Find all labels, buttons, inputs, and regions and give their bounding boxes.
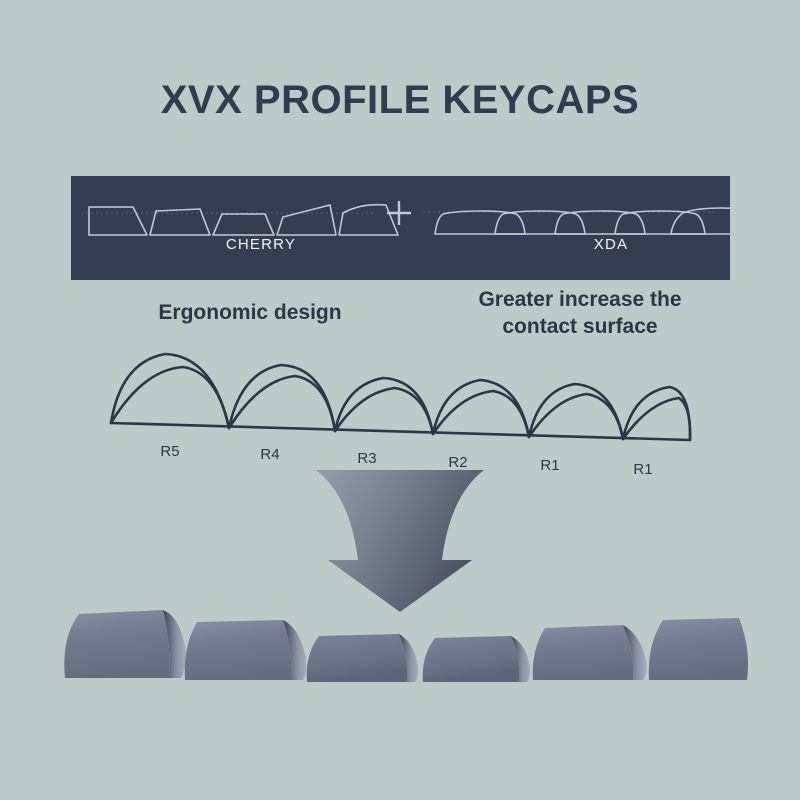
- photo-keycap-3: [307, 634, 418, 682]
- arch-r5-outer: [111, 354, 229, 428]
- arch-r4-outer: [229, 365, 335, 431]
- photo-keycap-2: [185, 620, 307, 680]
- arch-r1b-outer: [623, 387, 690, 440]
- cherry-profile-label: CHERRY: [161, 236, 361, 253]
- xda-keycap-4: [615, 211, 705, 234]
- keycap-photo-graphic: [45, 598, 755, 690]
- row-profile-diagram: [105, 340, 705, 450]
- row-label-r4: R4: [250, 446, 290, 463]
- page-title: XVX PROFILE KEYCAPS: [0, 78, 800, 123]
- caption-contact-surface-line2: contact surface: [425, 314, 735, 341]
- xda-profile-label: XDA: [511, 236, 711, 253]
- cherry-keycap-r4: [150, 209, 210, 235]
- caption-contact-surface: Greater increase the contact surface: [425, 287, 735, 341]
- row-label-r1-second: R1: [623, 461, 663, 478]
- row-profile-graphic: [105, 340, 705, 450]
- down-arrow-icon: [300, 462, 500, 617]
- arch-r2-outer: [433, 380, 529, 437]
- caption-ergonomic-design: Ergonomic design: [90, 300, 410, 327]
- row-label-r5: R5: [150, 443, 190, 460]
- cherry-keycap-r1: [339, 205, 398, 235]
- cherry-keycap-r2: [277, 205, 336, 235]
- xda-keycap-1: [435, 211, 525, 234]
- arch-r1a-outer: [529, 384, 623, 439]
- keycap-photo-strip: [45, 598, 755, 690]
- arch-r1b-inner: [623, 398, 690, 440]
- xda-keycap-2: [495, 211, 585, 234]
- xda-keycap-3: [555, 211, 645, 234]
- row-label-r1-first: R1: [530, 457, 570, 474]
- photo-keycap-5: [533, 625, 647, 680]
- poster-canvas: XVX PROFILE KEYCAPS: [0, 0, 800, 800]
- profile-comparison-banner: CHERRY XDA: [71, 176, 730, 280]
- profile-baseline: [111, 423, 690, 440]
- photo-keycap-4: [423, 636, 530, 682]
- cherry-keycap-r5: [89, 207, 147, 235]
- photo-keycap-6: [649, 618, 748, 680]
- cherry-keycap-group: [89, 205, 398, 235]
- photo-keycap-1: [64, 610, 186, 678]
- down-arrow-shape: [316, 470, 484, 612]
- cherry-keycap-r3: [213, 214, 274, 235]
- arch-r3-outer: [335, 378, 433, 434]
- down-arrow-container: [300, 462, 500, 617]
- plus-icon: [387, 201, 411, 225]
- profile-banner-graphic: [71, 176, 730, 280]
- caption-contact-surface-line1: Greater increase the: [425, 287, 735, 314]
